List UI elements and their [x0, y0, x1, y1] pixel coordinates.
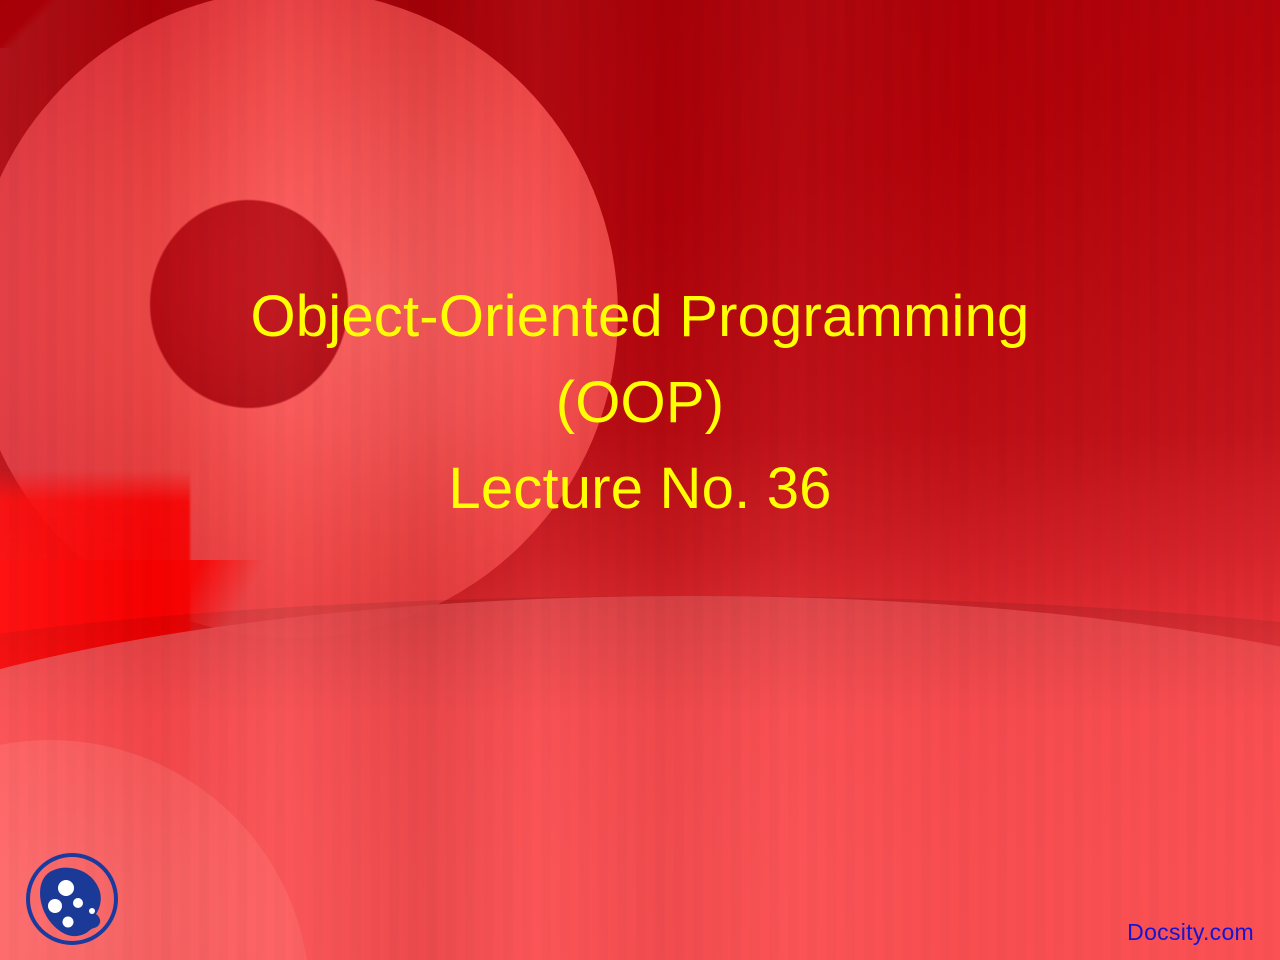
docsity-logo: [22, 848, 122, 950]
logo-dot-2-icon: [48, 899, 62, 913]
logo-dot-1-icon: [58, 880, 74, 896]
logo-dot-5-icon: [63, 917, 74, 928]
decorative-corner-shadow: [0, 0, 60, 48]
presentation-slide: Object-Oriented Programming (OOP) Lectur…: [0, 0, 1280, 960]
title-line-1: Object-Oriented Programming: [64, 274, 1216, 360]
slide-title: Object-Oriented Programming (OOP) Lectur…: [64, 274, 1216, 532]
title-line-2: (OOP): [64, 360, 1216, 446]
title-line-3: Lecture No. 36: [64, 446, 1216, 532]
logo-dot-3-icon: [73, 898, 83, 908]
docsity-url-label: Docsity.com: [1127, 919, 1254, 946]
logo-dot-4-icon: [89, 908, 95, 914]
docsity-logo-icon: [22, 848, 122, 950]
